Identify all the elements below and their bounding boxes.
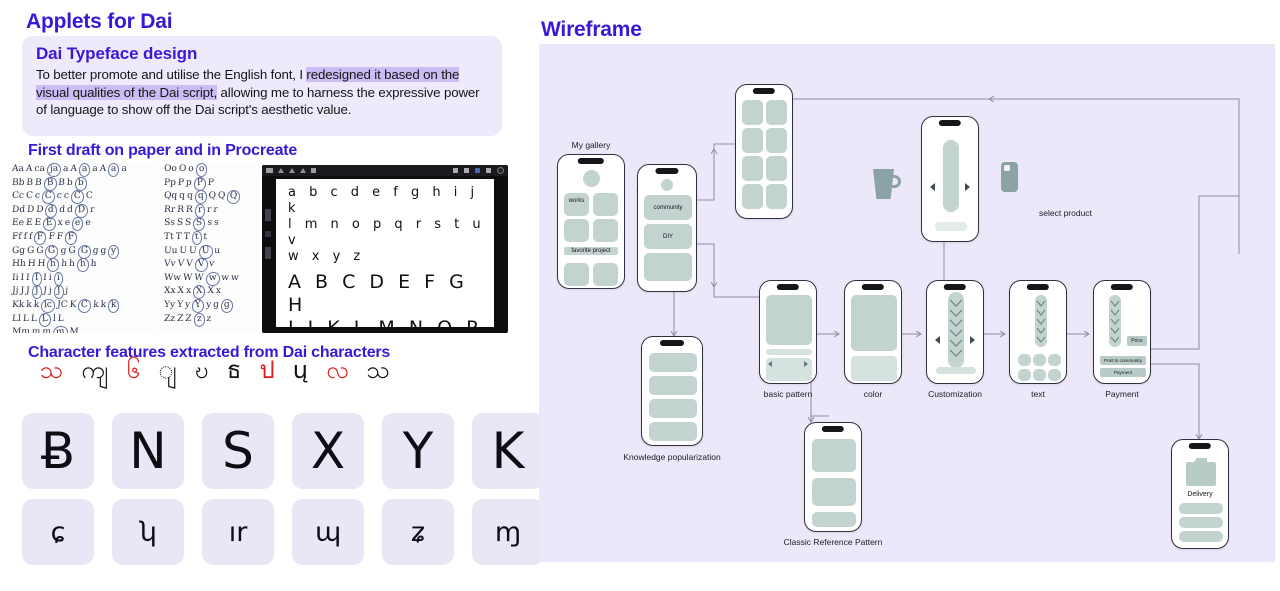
handwritten-line: SsSSSss [160,217,260,231]
procreate-tool-group [447,167,504,174]
package-icon [1186,462,1216,486]
payment-button[interactable]: Payment [1100,368,1146,377]
connector-lines [539,44,1275,562]
customization-body [932,294,978,377]
text-tile[interactable] [1033,354,1046,366]
procreate-toolbar [262,165,508,176]
text-tile[interactable] [1018,369,1031,381]
handwritten-line: UuUUUu [160,245,260,259]
intro-text-before: To better promote and utilise the Englis… [36,67,306,82]
glyph-tile: N [112,413,184,489]
screen-customization[interactable] [926,280,984,384]
handwritten-line: YyYyYygg [160,299,260,313]
section-title-first-draft: First draft on paper and in Procreate [28,142,297,160]
screen-main-menu[interactable]: community DIY [637,164,697,292]
next-arrow-icon[interactable] [965,183,970,191]
phone-notch [1111,284,1133,290]
knowledge-card[interactable] [649,422,697,441]
grid-tile[interactable] [742,100,763,125]
procreate-artboard: a b c d e f g h i j k l m n o p q r s t … [276,179,494,327]
dai-glyph: ဎ [195,358,209,382]
procreate-sidebar [265,209,271,269]
phone-notch [822,426,844,432]
delivery-row [1179,531,1223,542]
color-swatch-icon [497,167,504,174]
label-basic-pattern: basic pattern [764,389,813,399]
label-customization: Customization [928,389,982,399]
dai-glyph: ų [293,358,308,382]
glyph-tile: Y [382,413,454,489]
selection-icon [289,168,295,173]
knowledge-card[interactable] [649,399,697,418]
menu-item-third[interactable] [644,253,692,281]
phone-notch [660,340,684,346]
reference-card[interactable] [812,439,856,472]
text-tile[interactable] [1048,369,1061,381]
handwritten-line: CcCcCccCC [8,190,158,204]
gallery-icon [266,168,273,173]
classic-reference-body [810,436,856,525]
layers-icon [486,168,491,173]
glyph-tile: ʮ [112,499,184,565]
pattern-preview [766,295,812,345]
screen-text[interactable] [1009,280,1067,384]
gallery-tile[interactable] [564,219,589,242]
dai-glyph: ကျ [81,358,108,382]
color-swatch-grid[interactable] [851,356,897,381]
grid-tile[interactable] [766,156,787,181]
post-to-community-button[interactable]: Post to community [1100,356,1146,365]
product-preview [943,140,959,212]
gallery-tab-works[interactable]: works [564,197,589,205]
handwritten-line: BbBBBBbb [8,177,158,191]
basic-pattern-body [765,294,811,377]
screen-my-gallery[interactable]: works favorite project [557,154,625,289]
intro-title: Dai Typeface design [36,44,490,64]
handwritten-line: GgGGGgGGggy [8,245,158,259]
screen-select-product[interactable] [921,116,979,242]
handwritten-line: LlLLLlL [8,313,158,327]
confirm-bar[interactable] [935,222,967,231]
brush-icon [453,168,458,173]
uppercase-row-2: I J K L M N O P [276,317,494,333]
wireframe-canvas: My gallery works favorite project [539,44,1275,562]
next-arrow-icon[interactable] [804,361,808,367]
handwritten-line: XxXxXXx [160,285,260,299]
handwritten-line: EeEEExeee [8,217,158,231]
grid-tile[interactable] [766,100,787,125]
phone-notch [578,158,604,164]
glyph-tile: ɕ [22,499,94,565]
knowledge-card[interactable] [649,376,697,395]
screen-color[interactable] [844,280,902,384]
gallery-screen-body: works favorite project [563,168,619,282]
gallery-tile[interactable] [564,263,589,286]
label-my-gallery: My gallery [572,140,611,150]
next-arrow-icon[interactable] [970,336,975,344]
handwritten-line: AaAcajaaAaaAaa [8,163,158,177]
screen-basic-pattern[interactable] [759,280,817,384]
paper-sketch-column-b: OoOooPpPpPPQqqqqQQQRrRRrrrSsSSSssTtTTttU… [160,163,260,333]
handwritten-line: JjJJJJjJj [8,285,158,299]
phone-notch [1189,443,1211,449]
delivery-status-label: Delivery [1177,491,1223,498]
glyph-tile: ʑ [382,499,454,565]
mug-icon [873,169,899,199]
dai-glyph: ျ [158,358,177,382]
dai-glyph: ป [259,358,274,382]
handwritten-line: PpPpPP [160,177,260,191]
text-tile[interactable] [1018,354,1031,366]
paper-sketch-column-a: AaAcajaaAaaAaaBbBBBBbbCcCcCccCCDdDDdddDr… [8,163,158,333]
handwritten-line: IiIIIIii [8,272,158,286]
glyph-tiles-lowercase: ɕʮırɰʑɱ [22,499,544,565]
avatar [583,170,600,187]
screen-community-grid[interactable] [735,84,793,219]
intro-card: Dai Typeface design To better promote an… [22,36,502,136]
reference-card[interactable] [812,478,856,506]
label-text: text [1031,389,1045,399]
grid-tile[interactable] [742,184,763,209]
intro-body: To better promote and utilise the Englis… [36,66,490,119]
prev-arrow-icon[interactable] [768,361,772,367]
label-knowledge-popularization: Knowledge popularization [623,452,720,462]
screen-knowledge-popularization[interactable] [641,336,703,446]
handwritten-line: WwWWwww [160,272,260,286]
handwritten-line: VvVVVv [160,258,260,272]
color-preview [851,295,897,351]
wrench-icon [311,168,316,173]
glyph-tile: X [292,413,364,489]
adjust-icon [278,168,284,173]
gallery-tab-favorite-project[interactable]: favorite project [564,247,618,255]
lowercase-row-3: w x y z [276,249,494,265]
handwritten-line: OoOoo [160,163,260,177]
phone-notch [944,284,966,290]
grid-tile[interactable] [742,156,763,181]
phone-notch [1027,284,1049,290]
lowercase-row-2: l m n o p q r s t u v [276,217,494,249]
zigzag-pattern [1110,298,1120,344]
grid-tile[interactable] [742,128,763,153]
handwritten-line: HhHHhhhhh [8,258,158,272]
phone-notch [753,88,775,94]
gallery-tile[interactable] [593,193,618,216]
grid-tile[interactable] [766,184,787,209]
glyph-tile: ɰ [292,499,364,565]
label-classic-reference-pattern: Classic Reference Pattern [784,537,883,547]
case-camera-icon [1004,165,1010,171]
procreate-canvas: a b c d e f g h i j k l m n o p q r s t … [262,165,508,333]
avatar [661,179,673,191]
handwritten-line: FfffFFFF [8,231,158,245]
select-product-body [927,130,973,235]
pattern-divider [766,349,812,355]
phone-notch [655,168,678,174]
label-select-product: select product [1039,208,1092,218]
dai-glyph: ธ [227,358,242,382]
delivery-row [1179,503,1223,514]
delivery-row [1179,517,1223,528]
handwritten-line: RrRRrrr [160,204,260,218]
gallery-tile[interactable] [593,219,618,242]
phone-notch [939,120,961,126]
text-tile[interactable] [1048,354,1061,366]
menu-item-community-label: community [653,205,682,211]
handwritten-line: MmmmmM [8,326,158,333]
label-payment: Payment [1105,389,1139,399]
zigzag-pattern [949,296,963,364]
knowledge-card[interactable] [649,353,697,372]
delivery-screen-body: Delivery [1177,453,1223,542]
zigzag-pattern [1036,298,1046,344]
menu-item-diy-label: DIY [663,234,673,240]
glyph-tile: ır [202,499,274,565]
handwritten-line: ZzZZzz [160,313,260,327]
gallery-tile[interactable] [593,263,618,286]
screen-delivery[interactable]: Delivery [1171,439,1229,549]
screen-classic-reference-pattern[interactable] [804,422,862,532]
dai-glyph: ၆ [127,358,141,382]
eraser-icon [475,168,480,173]
page-title: Applets for Dai [26,10,172,34]
brush-opacity-slider[interactable] [265,247,271,259]
handwritten-line: DdDDdddDr [8,204,158,218]
handwritten-line: QqqqqQQQ [160,190,260,204]
dai-glyph: သ [367,358,390,382]
label-color: color [864,389,882,399]
phone-notch [862,284,884,290]
text-screen-body [1015,294,1061,377]
typeface-section: Applets for Dai Dai Typeface design To b… [0,0,530,591]
text-tile[interactable] [1033,369,1046,381]
lowercase-row-1: a b c d e f g h i j k [276,179,494,217]
screen-payment[interactable]: Price Post to community Payment [1093,280,1151,384]
reference-card[interactable] [812,512,856,527]
transform-icon [300,168,306,173]
modify-button[interactable] [265,231,271,237]
confirm-bar[interactable] [936,367,976,374]
glyph-tiles-uppercase: ɃNSXYK [22,413,544,489]
dai-glyph: သ [40,358,63,382]
phone-case-icon [1001,162,1018,192]
dai-glyph: လ [326,358,349,382]
phone-notch [777,284,799,290]
menu-item-community[interactable]: community [644,195,692,220]
wireframe-section: Wireframe [530,0,1280,591]
smudge-icon [464,168,469,173]
poster-page: Applets for Dai Dai Typeface design To b… [0,0,1280,591]
payment-screen-body: Price Post to community Payment [1099,294,1145,377]
grid-tile[interactable] [766,128,787,153]
dai-glyph-row: သကျ၆ျဎธปųလသ [40,358,390,382]
price-chip: Price [1127,336,1147,346]
wireframe-title: Wireframe [541,18,642,42]
prev-arrow-icon[interactable] [930,183,935,191]
handwritten-line: TtTTtt [160,231,260,245]
prev-arrow-icon[interactable] [935,336,940,344]
glyph-tile: S [202,413,274,489]
brush-size-slider[interactable] [265,209,271,221]
handwritten-line: KkkklcJCKCkkk [8,299,158,313]
menu-screen-body: community DIY [643,178,691,285]
uppercase-row-1: A B C D E F G H [276,265,494,317]
knowledge-screen-body [647,350,697,439]
package-flap-icon [1192,458,1207,465]
color-screen-body [850,294,896,377]
menu-item-diy[interactable]: DIY [644,224,692,249]
glyph-tile: Ƀ [22,413,94,489]
community-grid-body [741,98,787,212]
